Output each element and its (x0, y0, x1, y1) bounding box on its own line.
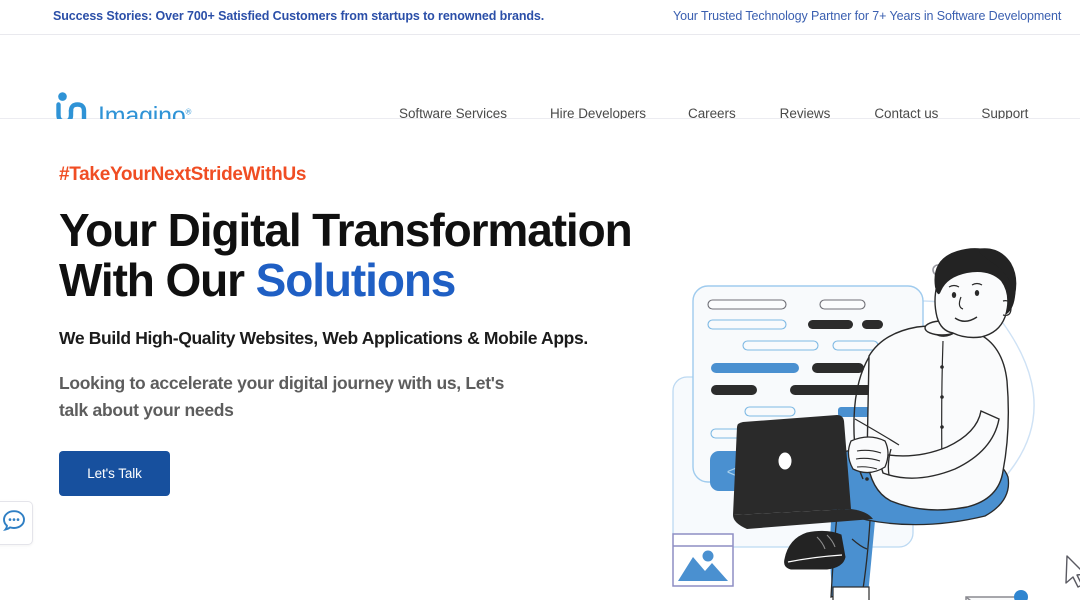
image-placeholder-icon (673, 534, 733, 586)
hero-description: Looking to accelerate your digital journ… (59, 370, 529, 423)
lets-talk-button[interactable]: Let's Talk (59, 451, 170, 496)
chat-bubble-icon (1, 508, 27, 539)
headline-line-2-plain: With Our (59, 254, 256, 306)
envelope-icon (966, 590, 1028, 600)
registered-mark: ® (186, 108, 192, 117)
announcement-right-text: Your Trusted Technology Partner for 7+ Y… (673, 9, 1061, 23)
headline-line-1: Your Digital Transformation (59, 204, 632, 256)
hero-section: #TakeYourNextStrideWithUs Your Digital T… (0, 119, 1080, 600)
hero-subheadline: We Build High-Quality Websites, Web Appl… (59, 328, 679, 349)
hero-headline: Your Digital Transformation With Our Sol… (59, 205, 679, 305)
hero-illustration: < // > (655, 119, 1080, 600)
announcement-bar: Success Stories: Over 700+ Satisfied Cus… (0, 0, 1080, 35)
cursor-arrow-icon (1066, 556, 1080, 587)
hero-hashtag: #TakeYourNextStrideWithUs (59, 164, 679, 186)
site-header: Imagino® Software Services Hire Develope… (0, 35, 1080, 119)
hero-copy: #TakeYourNextStrideWithUs Your Digital T… (59, 164, 679, 496)
headline-accent-word: Solutions (256, 254, 456, 306)
chat-widget-tab[interactable] (0, 501, 33, 545)
announcement-left-text: Success Stories: Over 700+ Satisfied Cus… (53, 9, 544, 23)
